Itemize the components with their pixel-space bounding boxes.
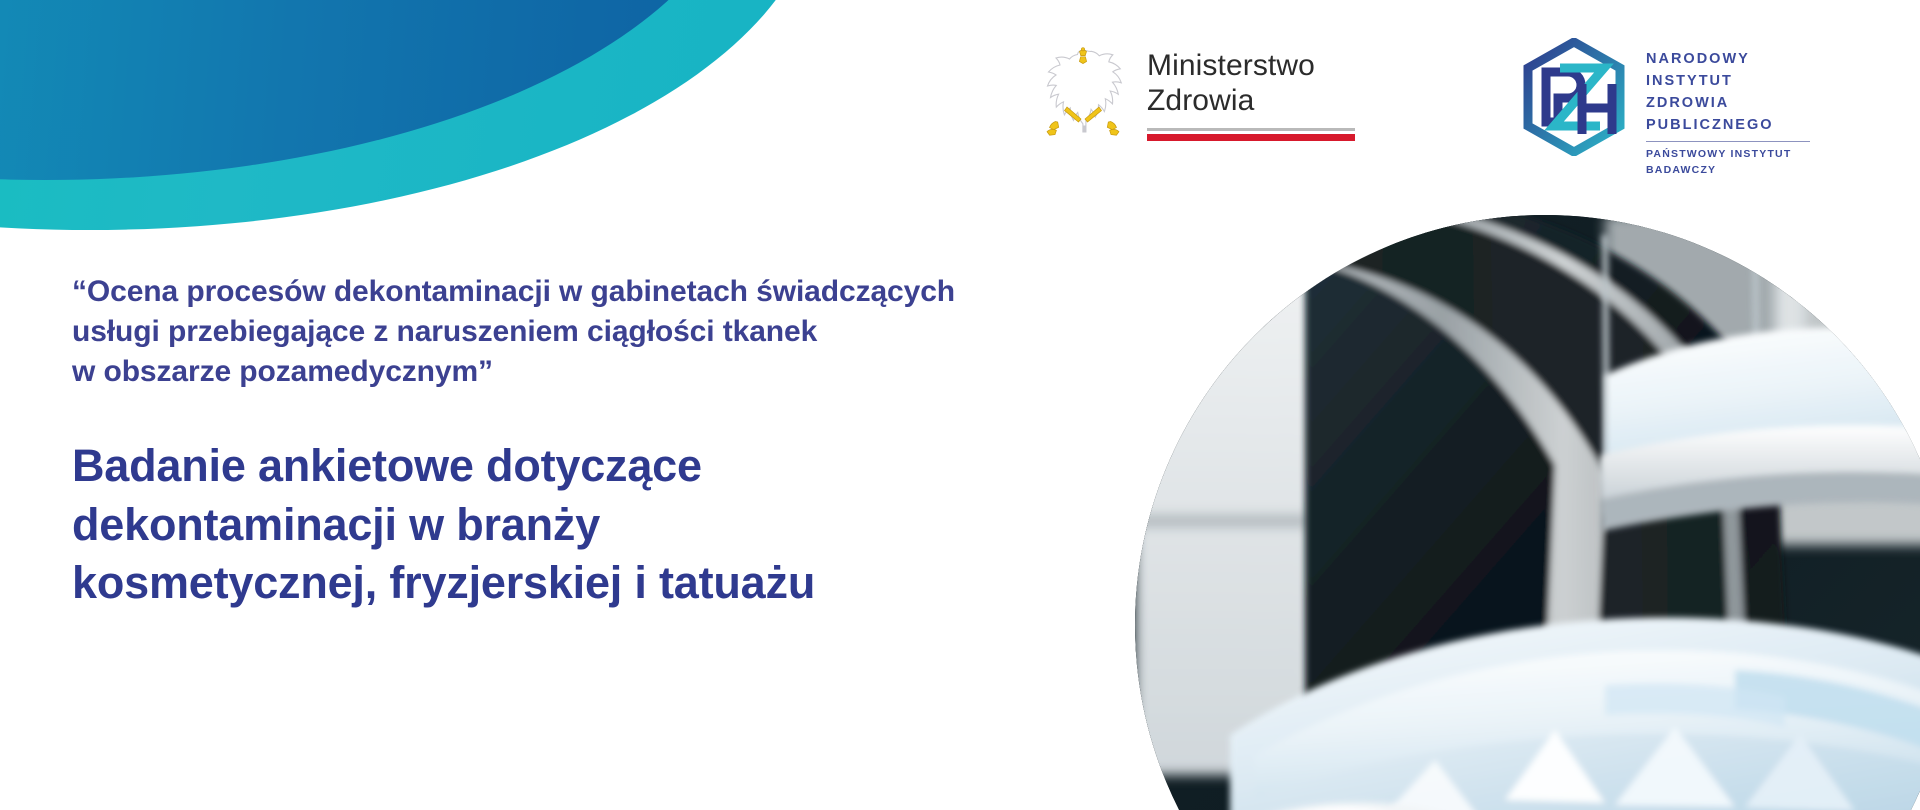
sterilization-autoclave-photo <box>1135 215 1920 810</box>
institute-wordmark: NARODOWY INSTYTUT ZDROWIA PUBLICZNEGO PA… <box>1646 38 1810 179</box>
institute-divider <box>1646 141 1810 142</box>
institute-line-4: PUBLICZNEGO <box>1646 114 1810 136</box>
grey-rule <box>1147 128 1355 131</box>
institute-sub-2: BADAWCZY <box>1646 163 1810 179</box>
quote-line-2: usługi przebiegające z naruszeniem ciągł… <box>72 312 1032 352</box>
page-title: Badanie ankietowe dotyczące dekontaminac… <box>72 437 1072 613</box>
quote-line-3: w obszarze pozamedycznym” <box>72 352 1032 392</box>
headline-line-2: dekontaminacji w branży <box>72 496 1072 555</box>
headline-line-3: kosmetycznej, fryzjerskiej i tatuażu <box>72 554 1072 613</box>
institute-line-2: INSTYTUT <box>1646 70 1810 92</box>
logo-bar: Ministerstwo Zdrowia <box>0 0 1920 190</box>
institute-line-3: ZDROWIA <box>1646 92 1810 114</box>
ministry-line-2: Zdrowia <box>1147 83 1355 118</box>
institute-sub-1: PAŃSTWOWY INSTYTUT <box>1646 147 1810 163</box>
nizp-pzh-logo: NARODOWY INSTYTUT ZDROWIA PUBLICZNEGO PA… <box>1520 38 1810 179</box>
red-rule <box>1147 134 1355 141</box>
ministry-of-health-logo: Ministerstwo Zdrowia <box>1035 42 1355 142</box>
headline-line-1: Badanie ankietowe dotyczące <box>72 437 1072 496</box>
cover-page: Ministerstwo Zdrowia <box>0 0 1920 810</box>
project-title-quote: “Ocena procesów dekontaminacji w gabinet… <box>72 272 1032 393</box>
ministry-wordmark: Ministerstwo Zdrowia <box>1147 42 1355 141</box>
polish-eagle-emblem-icon <box>1035 42 1131 142</box>
ministry-line-1: Ministerstwo <box>1147 48 1355 83</box>
quote-line-1: “Ocena procesów dekontaminacji w gabinet… <box>72 272 1032 312</box>
ministry-flag-rules <box>1147 128 1355 141</box>
institute-line-1: NARODOWY <box>1646 48 1810 70</box>
pzh-monogram-icon <box>1520 38 1628 156</box>
